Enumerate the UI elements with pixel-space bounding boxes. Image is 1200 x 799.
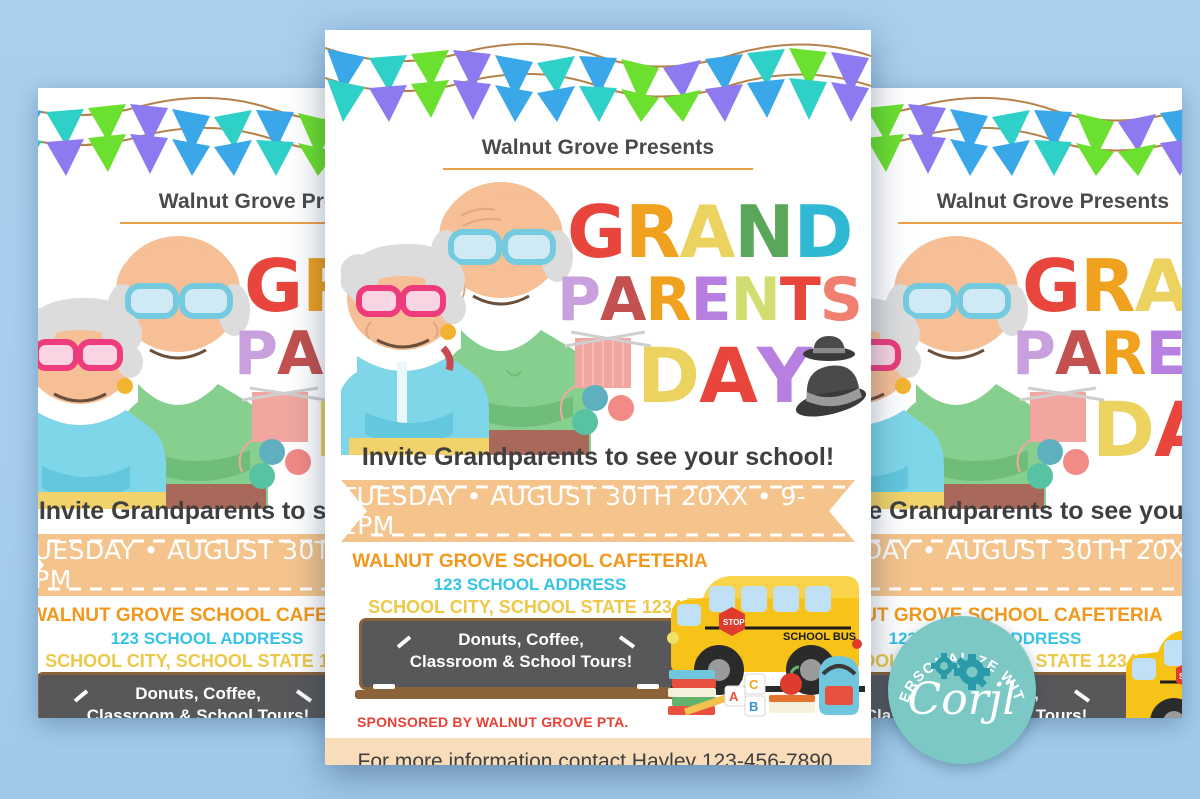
footer-text: For more information contact Hayley 123-… xyxy=(358,750,839,765)
date-ribbon-right: TUESDAY • AUGUST 30TH 20XX • 9-1PM xyxy=(852,534,1182,596)
title-line-grand: GRAND xyxy=(567,196,852,268)
flyer-center: Walnut Grove Presents xyxy=(325,30,871,765)
chalkboard-text: Donuts, Coffee, Classroom & School Tours… xyxy=(362,629,680,674)
flyer-center-inner: Walnut Grove Presents xyxy=(325,30,871,765)
title-letter: G xyxy=(567,196,625,268)
title-letter: A xyxy=(600,270,645,330)
presents-rule xyxy=(443,168,753,170)
title-letter: N xyxy=(734,196,793,268)
school-bus-illustration: SCHOOL BUS STOP xyxy=(665,560,871,720)
title-line-grand-right: GRAND xyxy=(1022,250,1182,322)
svg-text:STOP: STOP xyxy=(1179,672,1182,681)
tagline-right: Invite Grandparents to see your school! xyxy=(852,497,1182,526)
svg-text:B: B xyxy=(749,699,758,714)
title-letter: R xyxy=(645,270,690,330)
title-letter: A xyxy=(1135,250,1182,322)
tagline: Invite Grandparents to see your school! xyxy=(325,443,871,472)
title-letter: S xyxy=(820,270,862,330)
chalk-piece-2 xyxy=(637,684,659,689)
svg-text:A: A xyxy=(729,689,739,704)
chalkboard: Donuts, Coffee, Classroom & School Tours… xyxy=(355,618,685,704)
chalkboard-line-2-left: Classroom & School Tours! xyxy=(39,705,357,718)
chalkboard-surface-left: Donuts, Coffee, Classroom & School Tours… xyxy=(38,672,354,718)
knitting-illustration-left xyxy=(230,384,340,489)
title-letter: A xyxy=(1055,324,1100,384)
title-letter: A xyxy=(1154,392,1182,468)
date-ribbon: TUESDAY • AUGUST 30TH 20XX • 9-1PM xyxy=(341,480,855,542)
bunting-banner xyxy=(325,30,871,122)
title-line-day: DAY xyxy=(637,338,811,414)
title-letter: P xyxy=(1012,324,1055,384)
title-line-parents-right: PARENTS xyxy=(1012,324,1182,384)
title-letter: R xyxy=(625,196,679,268)
svg-text:STOP: STOP xyxy=(723,618,745,627)
title-line-parents: PARENTS xyxy=(557,270,862,330)
title-letter: T xyxy=(780,270,820,330)
title-letter: N xyxy=(731,270,780,330)
bunting-banner-right xyxy=(852,88,1182,176)
presents-line-right: Walnut Grove Presents xyxy=(852,190,1182,214)
date-ribbon-text-right: TUESDAY • AUGUST 30TH 20XX • 9-1PM xyxy=(852,534,1182,596)
title-letter: G xyxy=(1022,250,1080,322)
date-ribbon-text: TUESDAY • AUGUST 30TH 20XX • 9-1PM xyxy=(341,480,855,542)
svg-text:C: C xyxy=(749,677,759,692)
corjl-brand-text: Corjl xyxy=(888,678,1036,722)
title-letter: P xyxy=(557,270,600,330)
title-letter: A xyxy=(277,324,322,384)
title-letter: R xyxy=(1100,324,1145,384)
corjl-badge[interactable]: PERSONALIZE WITH Corjl xyxy=(888,616,1036,764)
chalkboard-line-1: Donuts, Coffee, xyxy=(362,629,680,651)
chalkboard-line-1-left: Donuts, Coffee, xyxy=(39,683,357,705)
chalkboard-surface: Donuts, Coffee, Classroom & School Tours… xyxy=(359,618,677,690)
title-letter: A xyxy=(680,196,735,268)
knitting-illustration xyxy=(553,330,663,435)
chalkboard-text-left: Donuts, Coffee, Classroom & School Tours… xyxy=(39,683,357,718)
chalkboard-line-2: Classroom & School Tours! xyxy=(362,651,680,673)
title-letter: E xyxy=(1146,324,1182,384)
chalk-piece-1 xyxy=(373,684,395,689)
presents-rule-right xyxy=(898,222,1182,224)
chalkboard-left: Donuts, Coffee, Classroom & School Tours… xyxy=(38,672,362,718)
sponsor-text: SPONSORED BY WALNUT GROVE PTA. xyxy=(357,714,629,730)
school-bus-illustration-right: SCHOOL BUS STOP A B xyxy=(1120,614,1182,718)
chalkboard-ledge xyxy=(355,690,681,699)
title-letter: E xyxy=(691,270,731,330)
knitting-illustration-right xyxy=(1008,384,1118,489)
title-letter: P xyxy=(234,324,277,384)
title-letter: A xyxy=(699,338,757,414)
title-letter: G xyxy=(244,250,302,322)
svg-text:SCHOOL BUS: SCHOOL BUS xyxy=(783,631,856,643)
title-letter: D xyxy=(794,196,853,268)
hats-illustration xyxy=(787,330,871,435)
footer-band: For more information contact Hayley 123-… xyxy=(325,738,871,765)
title-letter: R xyxy=(1080,250,1134,322)
presents-line: Walnut Grove Presents xyxy=(325,136,871,160)
